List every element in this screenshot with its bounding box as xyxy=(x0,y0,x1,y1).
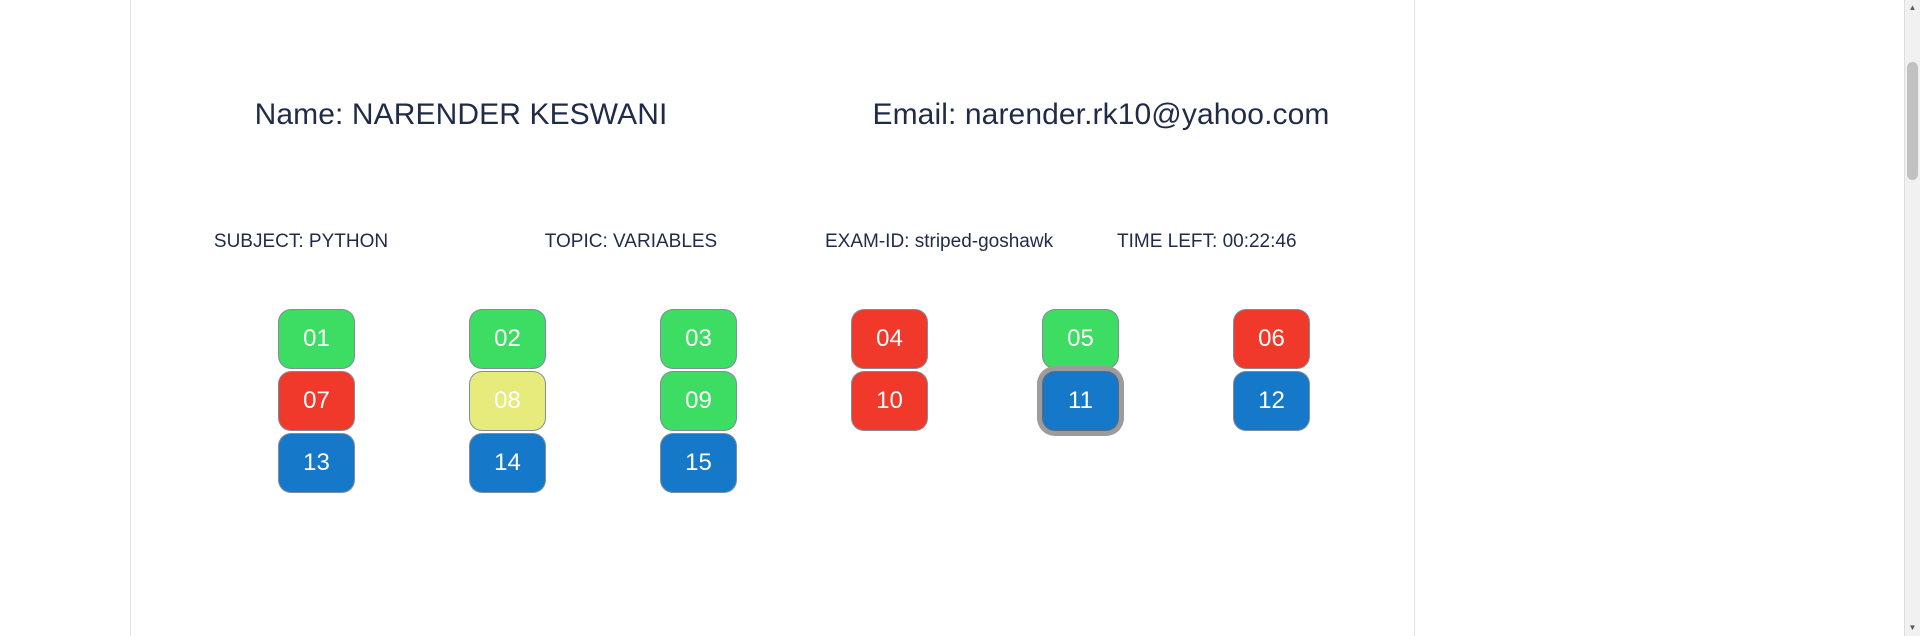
question-tile[interactable]: 07 xyxy=(279,372,354,430)
question-cell[interactable]: 12 xyxy=(1176,372,1367,434)
browser-viewport: Name: NARENDER KESWANI Email: narender.r… xyxy=(0,0,1920,636)
vertical-scrollbar[interactable]: ▲ ▼ xyxy=(1904,0,1920,636)
question-tile[interactable]: 14 xyxy=(470,434,545,492)
question-tile[interactable]: 12 xyxy=(1234,372,1309,430)
scroll-down-icon[interactable]: ▼ xyxy=(1905,620,1920,636)
question-cell xyxy=(794,434,985,496)
question-tile[interactable]: 04 xyxy=(852,310,927,368)
exam-page-container: Name: NARENDER KESWANI Email: narender.r… xyxy=(130,0,1415,636)
question-tile[interactable]: 13 xyxy=(279,434,354,492)
question-cell[interactable]: 01 xyxy=(221,310,412,372)
meta-exam-id: EXAM-ID: striped-goshawk xyxy=(791,228,1091,256)
question-tile[interactable]: 03 xyxy=(661,310,736,368)
page-gutter-right xyxy=(1416,0,1904,636)
question-cell[interactable]: 08 xyxy=(412,372,603,434)
meta-time-left: TIME LEFT: 00:22:46 xyxy=(1091,228,1381,256)
question-cell[interactable]: 04 xyxy=(794,310,985,372)
question-cell[interactable]: 05 xyxy=(985,310,1176,372)
page-gutter-left xyxy=(0,0,130,636)
meta-subject: SUBJECT: PYTHON xyxy=(131,228,471,256)
question-tile[interactable]: 01 xyxy=(279,310,354,368)
question-tile[interactable]: 05 xyxy=(1043,310,1118,368)
question-cell[interactable]: 09 xyxy=(603,372,794,434)
question-tile[interactable]: 10 xyxy=(852,372,927,430)
scroll-up-icon[interactable]: ▲ xyxy=(1905,0,1920,16)
student-email: Email: narender.rk10@yahoo.com xyxy=(791,98,1411,132)
question-tile[interactable]: 11 xyxy=(1043,372,1118,430)
question-cell xyxy=(985,434,1176,496)
question-cell[interactable]: 15 xyxy=(603,434,794,496)
question-tile[interactable]: 09 xyxy=(661,372,736,430)
question-cell[interactable]: 13 xyxy=(221,434,412,496)
question-cell[interactable]: 10 xyxy=(794,372,985,434)
question-cell[interactable]: 11 xyxy=(985,372,1176,434)
question-cell xyxy=(1176,434,1367,496)
question-cell[interactable]: 14 xyxy=(412,434,603,496)
question-cell[interactable]: 02 xyxy=(412,310,603,372)
question-tile[interactable]: 02 xyxy=(470,310,545,368)
question-tile[interactable]: 15 xyxy=(661,434,736,492)
question-cell[interactable]: 03 xyxy=(603,310,794,372)
meta-topic: TOPIC: VARIABLES xyxy=(471,228,791,256)
exam-meta-row: SUBJECT: PYTHON TOPIC: VARIABLES EXAM-ID… xyxy=(131,228,1414,256)
question-tile[interactable]: 08 xyxy=(470,372,545,430)
question-palette: 010203040506070809101112131415 xyxy=(221,310,1381,496)
student-name: Name: NARENDER KESWANI xyxy=(131,98,791,132)
question-tile[interactable]: 06 xyxy=(1234,310,1309,368)
question-cell[interactable]: 06 xyxy=(1176,310,1367,372)
student-header: Name: NARENDER KESWANI Email: narender.r… xyxy=(131,98,1414,132)
scrollbar-thumb[interactable] xyxy=(1907,62,1918,180)
question-cell[interactable]: 07 xyxy=(221,372,412,434)
